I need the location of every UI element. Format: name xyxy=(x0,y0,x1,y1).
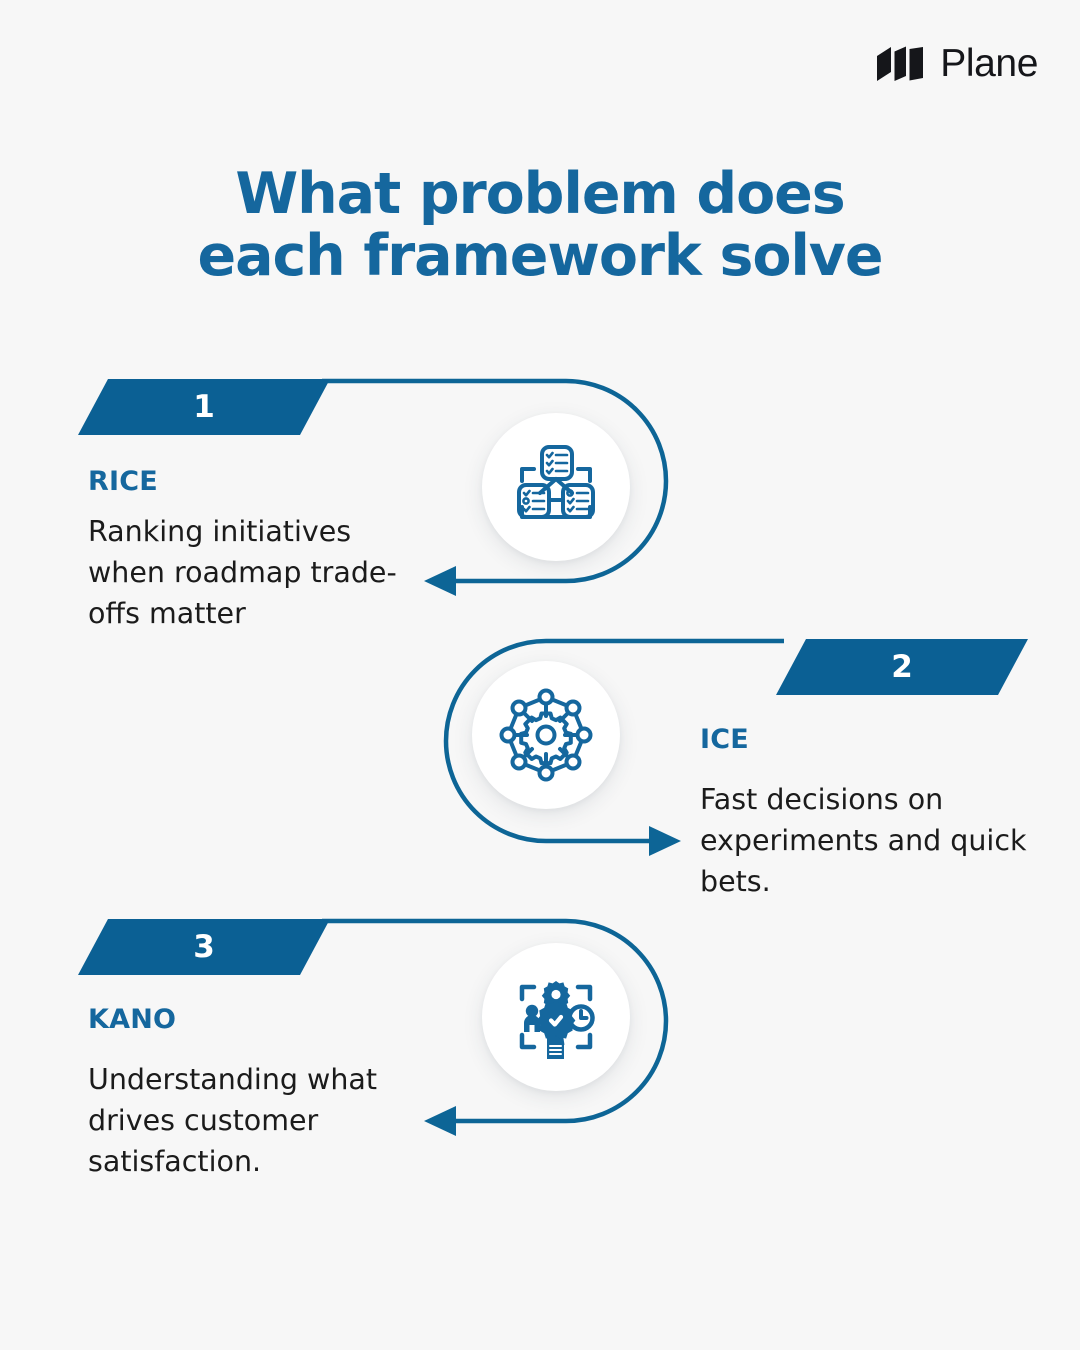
infographic-canvas: Plane What problem does each framework s… xyxy=(0,0,1080,1350)
framework-body-ice: Fast decisions on experiments and quick … xyxy=(700,780,1035,902)
step-number-badge-3: 3 xyxy=(78,919,330,975)
plane-logo-icon xyxy=(875,45,927,83)
page-title-line-1: What problem does xyxy=(0,163,1080,225)
brand-logo: Plane xyxy=(875,44,1038,83)
page-title-line-2: each framework solve xyxy=(0,225,1080,287)
step-number-2: 2 xyxy=(891,649,913,685)
framework-body-rice: Ranking initiatives when roadmap trade-o… xyxy=(88,512,418,634)
brand-name: Plane xyxy=(940,44,1038,83)
checklist-hierarchy-icon xyxy=(504,435,608,539)
page-title: What problem does each framework solve xyxy=(0,163,1080,287)
framework-body-kano: Understanding what drives customer satis… xyxy=(88,1060,418,1182)
framework-heading-ice: ICE xyxy=(700,724,749,755)
framework-heading-kano: KANO xyxy=(88,1004,176,1035)
step-number-3: 3 xyxy=(193,929,215,965)
framework-heading-rice: RICE xyxy=(88,466,158,497)
step-number-badge-1: 1 xyxy=(78,379,330,435)
step-number-1: 1 xyxy=(193,389,215,425)
step-number-badge-2: 2 xyxy=(776,639,1028,695)
gear-network-icon xyxy=(494,683,598,787)
framework-icon-circle-ice xyxy=(472,661,620,809)
customer-quality-icon xyxy=(504,965,608,1069)
framework-icon-circle-kano xyxy=(482,943,630,1091)
framework-icon-circle-rice xyxy=(482,413,630,561)
